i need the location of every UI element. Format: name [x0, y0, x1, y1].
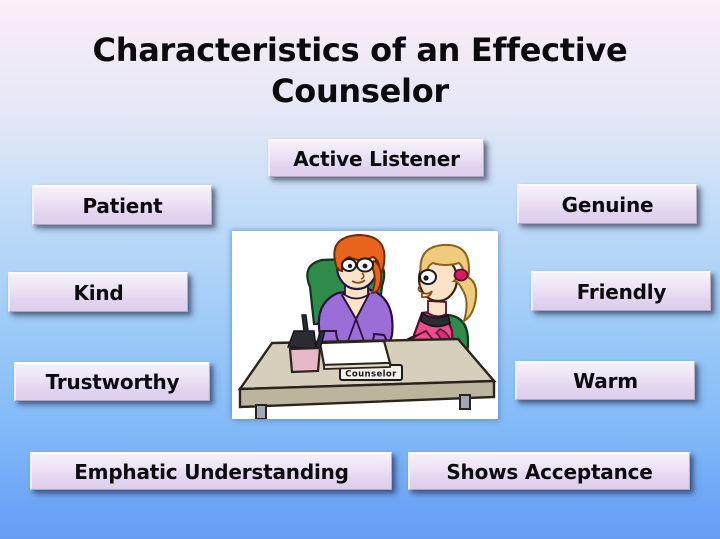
trait-box-genuine[interactable]: Genuine: [517, 184, 697, 224]
trait-box-shows-acceptance[interactable]: Shows Acceptance: [408, 452, 690, 490]
trait-box-emphatic-understanding[interactable]: Emphatic Understanding: [30, 452, 392, 490]
trait-label-emphatic-understanding: Emphatic Understanding: [74, 460, 349, 484]
trait-label-kind: Kind: [73, 281, 123, 305]
counseling-session-image: Counselor: [232, 231, 498, 419]
trait-label-warm: Warm: [573, 369, 638, 393]
trait-label-trustworthy: Trustworthy: [46, 370, 180, 394]
trait-box-friendly[interactable]: Friendly: [531, 271, 711, 311]
trait-box-trustworthy[interactable]: Trustworthy: [14, 362, 210, 401]
paper-icon: [320, 341, 390, 369]
trait-box-active-listener[interactable]: Active Listener: [268, 139, 484, 177]
trait-label-patient: Patient: [83, 194, 163, 218]
trait-label-shows-acceptance: Shows Acceptance: [446, 460, 652, 484]
trait-label-genuine: Genuine: [562, 193, 654, 217]
trait-box-warm[interactable]: Warm: [515, 361, 695, 400]
desk-nameplate-text: Counselor: [345, 370, 397, 380]
counseling-session-illustration: Counselor: [232, 231, 498, 419]
page-title: Characteristics of an Effective Counselo…: [0, 30, 720, 112]
trait-box-kind[interactable]: Kind: [8, 272, 188, 312]
slide-canvas: Characteristics of an Effective Counselo…: [0, 0, 720, 539]
trait-box-patient[interactable]: Patient: [32, 185, 212, 225]
trait-label-friendly: Friendly: [577, 280, 667, 304]
trait-label-active-listener: Active Listener: [293, 147, 460, 171]
